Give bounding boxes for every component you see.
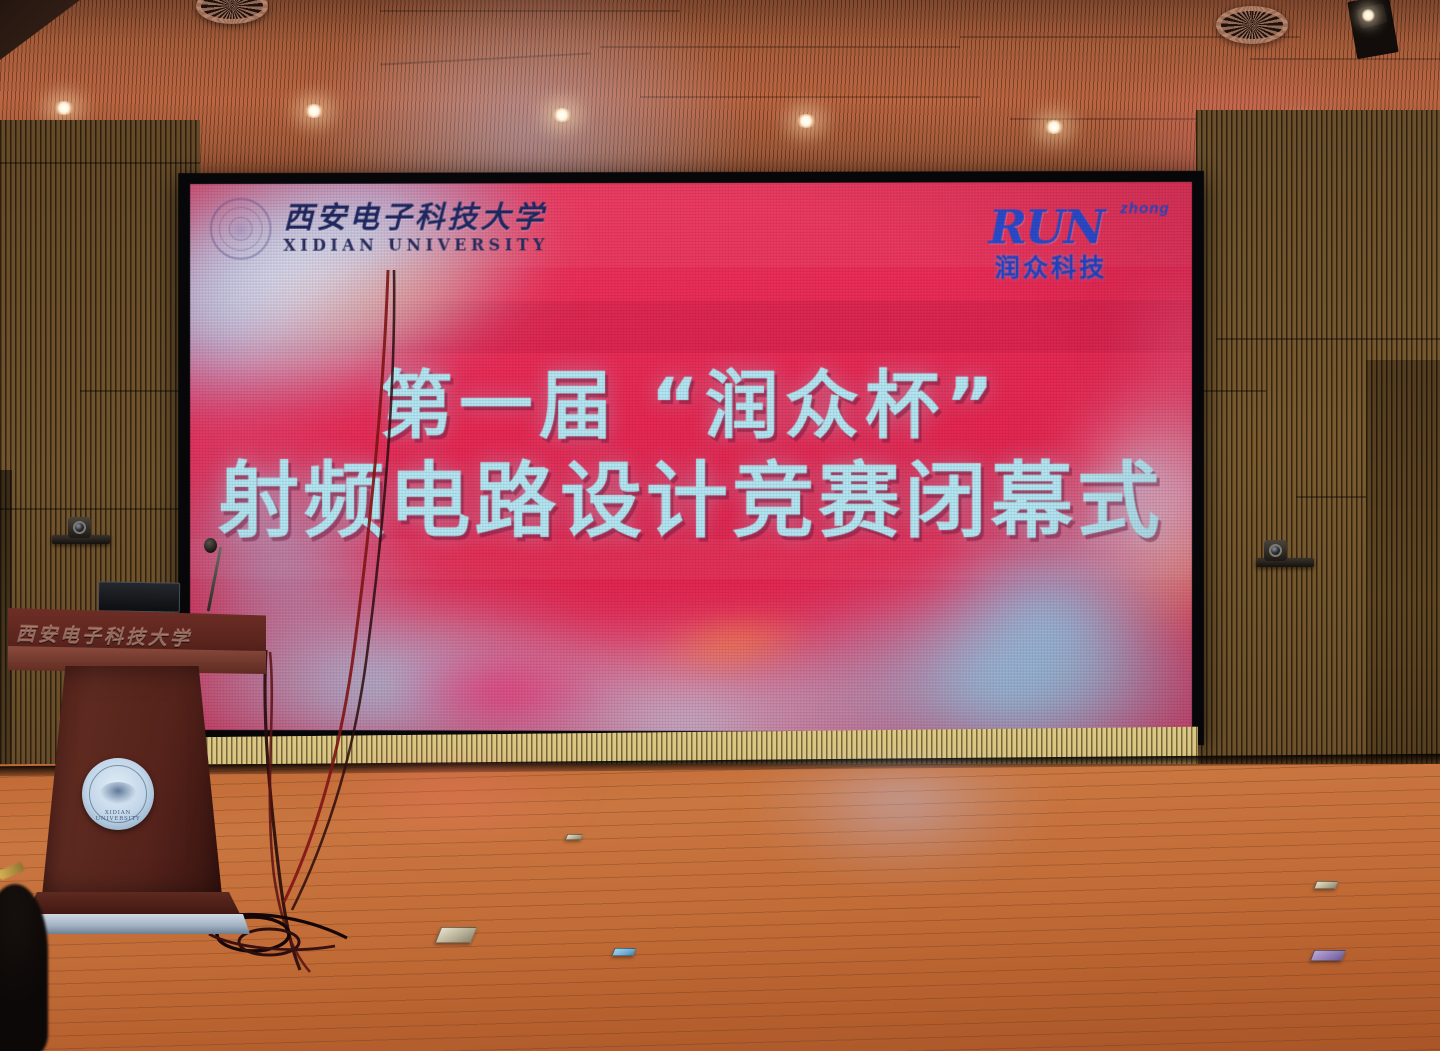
university-name-en: XIDIAN UNIVERSITY <box>283 237 548 253</box>
recessed-downlight-icon <box>795 114 817 128</box>
floor-outlet-box-icon <box>611 948 636 956</box>
air-diffuser-icon <box>196 0 268 24</box>
microphone-capsule <box>204 538 217 553</box>
wall-mounted-camera-icon <box>52 518 110 544</box>
recessed-downlight-icon <box>551 108 573 122</box>
sponsor-wordmark: RUN <box>989 200 1104 254</box>
sponsor-name-cn: 润众科技 <box>995 248 1108 284</box>
floor-outlet-box-icon <box>1310 950 1346 961</box>
ceiling-corner-shadow <box>0 0 80 60</box>
foreground-person-silhouette <box>0 884 48 1051</box>
sponsor-logo: RUN zhong 润众科技 <box>989 198 1174 277</box>
recessed-downlight-icon <box>53 101 75 115</box>
wall-seam <box>1196 390 1266 392</box>
floor-light-reflection <box>700 766 1120 966</box>
ceiling-light-spill <box>300 0 760 200</box>
xidian-university-seal-icon <box>210 198 272 260</box>
floor-outlet-box-icon <box>565 834 583 840</box>
xidian-university-emblem-icon: XIDIAN UNIVERSITY <box>82 758 154 830</box>
university-logo: 西安电子科技大学 XIDIAN UNIVERSITY <box>210 197 549 259</box>
podium-base <box>16 914 250 934</box>
floor-outlet-box-icon <box>1313 881 1338 889</box>
recessed-downlight-icon <box>303 104 325 118</box>
podium-carved-text: 西安电子科技大学 <box>16 620 193 652</box>
camera-lens <box>73 521 86 534</box>
wall-mounted-camera-icon <box>1256 541 1314 567</box>
sponsor-pinyin: zhong <box>1120 200 1170 217</box>
wall-seam <box>1216 338 1440 340</box>
auditorium-scene: 西安电子科技大学 XIDIAN UNIVERSITY RUN zhong 润众科… <box>0 0 1440 1051</box>
confidence-monitor-icon <box>98 581 181 612</box>
lectern-podium: 西安电子科技大学 XIDIAN UNIVERSITY <box>8 608 266 938</box>
wall-seam <box>0 508 200 510</box>
camera-lens <box>1269 544 1282 557</box>
audio-cable-icon <box>248 270 408 930</box>
university-name: 西安电子科技大学 XIDIAN UNIVERSITY <box>283 203 548 253</box>
recessed-downlight-icon <box>1043 120 1065 134</box>
emblem-caption: XIDIAN UNIVERSITY <box>82 810 154 822</box>
wall-seam <box>0 162 200 164</box>
air-diffuser-icon <box>1216 6 1288 44</box>
university-name-cn: 西安电子科技大学 <box>283 203 548 233</box>
